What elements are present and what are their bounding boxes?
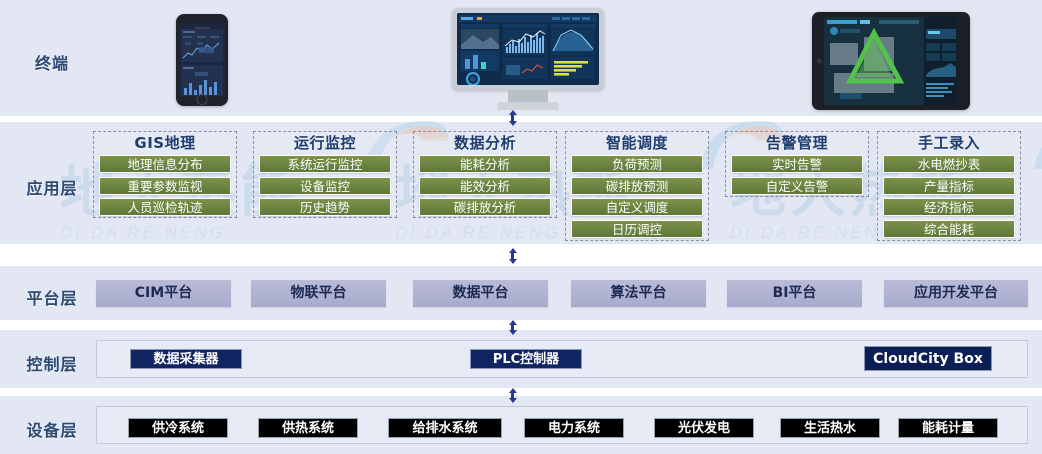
app-item[interactable]: 碳排放分析 <box>419 198 551 216</box>
app-item[interactable]: 综合能耗 <box>883 220 1015 238</box>
phone-home-button <box>197 94 208 105</box>
tablet-screen <box>824 17 958 105</box>
row-label-device: 设备层 <box>14 417 90 441</box>
device-box-hot-water[interactable]: 生活热水 <box>780 418 880 438</box>
monitor-foot <box>497 102 559 110</box>
row-label-application: 应用层 <box>14 175 90 199</box>
row-label-platform: 平台层 <box>14 285 90 309</box>
app-group-title: GIS地理 <box>99 135 231 152</box>
platform-box-data[interactable]: 数据平台 <box>413 280 548 307</box>
row-label-control: 控制层 <box>14 351 90 375</box>
app-group-gis[interactable]: GIS地理 地理信息分布 重要参数监视 人员巡检轨迹 <box>93 131 237 218</box>
platform-box-cim[interactable]: CIM平台 <box>96 280 231 307</box>
app-item[interactable]: 系统运行监控 <box>259 155 391 173</box>
phone-screen <box>179 23 225 96</box>
app-group-intelligent-dispatch[interactable]: 智能调度 负荷预测 碳排放预测 自定义调度 日历调控 <box>565 131 709 241</box>
device-box-power[interactable]: 电力系统 <box>524 418 624 438</box>
app-item[interactable]: 自定义调度 <box>571 198 703 216</box>
app-group-title: 运行监控 <box>259 135 391 152</box>
monitor-bezel <box>452 8 604 90</box>
app-group-title: 智能调度 <box>571 135 703 152</box>
app-item[interactable]: 重要参数监视 <box>99 177 231 195</box>
control-box-plc-controller[interactable]: PLC控制器 <box>470 349 582 369</box>
device-box-photovoltaic[interactable]: 光伏发电 <box>654 418 754 438</box>
row-label-terminal: 终端 <box>14 50 90 74</box>
device-box-heating[interactable]: 供热系统 <box>258 418 358 438</box>
platform-box-app-dev[interactable]: 应用开发平台 <box>884 280 1028 307</box>
app-group-title: 数据分析 <box>419 135 551 152</box>
app-item[interactable]: 人员巡检轨迹 <box>99 198 231 216</box>
app-item[interactable]: 实时告警 <box>731 155 863 173</box>
platform-box-algorithm[interactable]: 算法平台 <box>571 280 706 307</box>
app-group-title: 告警管理 <box>731 135 863 152</box>
app-group-alarm-management[interactable]: 告警管理 实时告警 自定义告警 <box>725 131 869 197</box>
control-box-cloudcity-box[interactable]: CloudCity Box <box>864 346 992 371</box>
app-item[interactable]: 历史趋势 <box>259 198 391 216</box>
arrow-platform-to-control <box>508 320 517 335</box>
app-item[interactable]: 能耗分析 <box>419 155 551 173</box>
app-group-data-analysis[interactable]: 数据分析 能耗分析 能效分析 碳排放分析 <box>413 131 557 218</box>
monitor-neck <box>508 90 548 102</box>
app-group-manual-entry[interactable]: 手工录入 水电燃抄表 产量指标 经济指标 综合能耗 <box>877 131 1021 241</box>
monitor-dashboard-graphic <box>457 13 599 85</box>
app-item[interactable]: 能效分析 <box>419 177 551 195</box>
terminal-device-desktop-monitor <box>452 8 604 112</box>
app-item[interactable]: 负荷预测 <box>571 155 703 173</box>
monitor-screen <box>457 13 599 85</box>
app-item[interactable]: 自定义告警 <box>731 177 863 195</box>
device-box-energy-meter[interactable]: 能耗计量 <box>898 418 998 438</box>
tablet-camera <box>817 59 822 64</box>
app-item[interactable]: 设备监控 <box>259 177 391 195</box>
app-item[interactable]: 碳排放预测 <box>571 177 703 195</box>
platform-box-bi[interactable]: BI平台 <box>727 280 862 307</box>
app-item[interactable]: 经济指标 <box>883 198 1015 216</box>
arrow-control-to-device <box>508 388 517 403</box>
app-item[interactable]: 产量指标 <box>883 177 1015 195</box>
device-box-water-supply[interactable]: 给排水系统 <box>388 418 502 438</box>
app-item[interactable]: 地理信息分布 <box>99 155 231 173</box>
app-item[interactable]: 日历调控 <box>571 220 703 238</box>
app-item[interactable]: 水电燃抄表 <box>883 155 1015 173</box>
terminal-device-mobile-phone <box>176 14 228 106</box>
control-box-data-collector[interactable]: 数据采集器 <box>130 349 242 369</box>
platform-box-iot[interactable]: 物联平台 <box>251 280 386 307</box>
app-group-title: 手工录入 <box>883 135 1015 152</box>
arrow-terminal-to-application <box>508 110 517 126</box>
architecture-diagram: 地大热能 DI DA RE NENG 地大热能 DI DA RE NENG 地大… <box>0 0 1042 454</box>
phone-dashboard-graphic <box>179 28 225 96</box>
device-box-cooling[interactable]: 供冷系统 <box>128 418 228 438</box>
app-group-operation-monitoring[interactable]: 运行监控 系统运行监控 设备监控 历史趋势 <box>253 131 397 218</box>
terminal-device-tablet <box>812 12 970 110</box>
arrow-application-to-platform <box>508 248 517 264</box>
tablet-3d-scene-graphic <box>824 17 958 105</box>
